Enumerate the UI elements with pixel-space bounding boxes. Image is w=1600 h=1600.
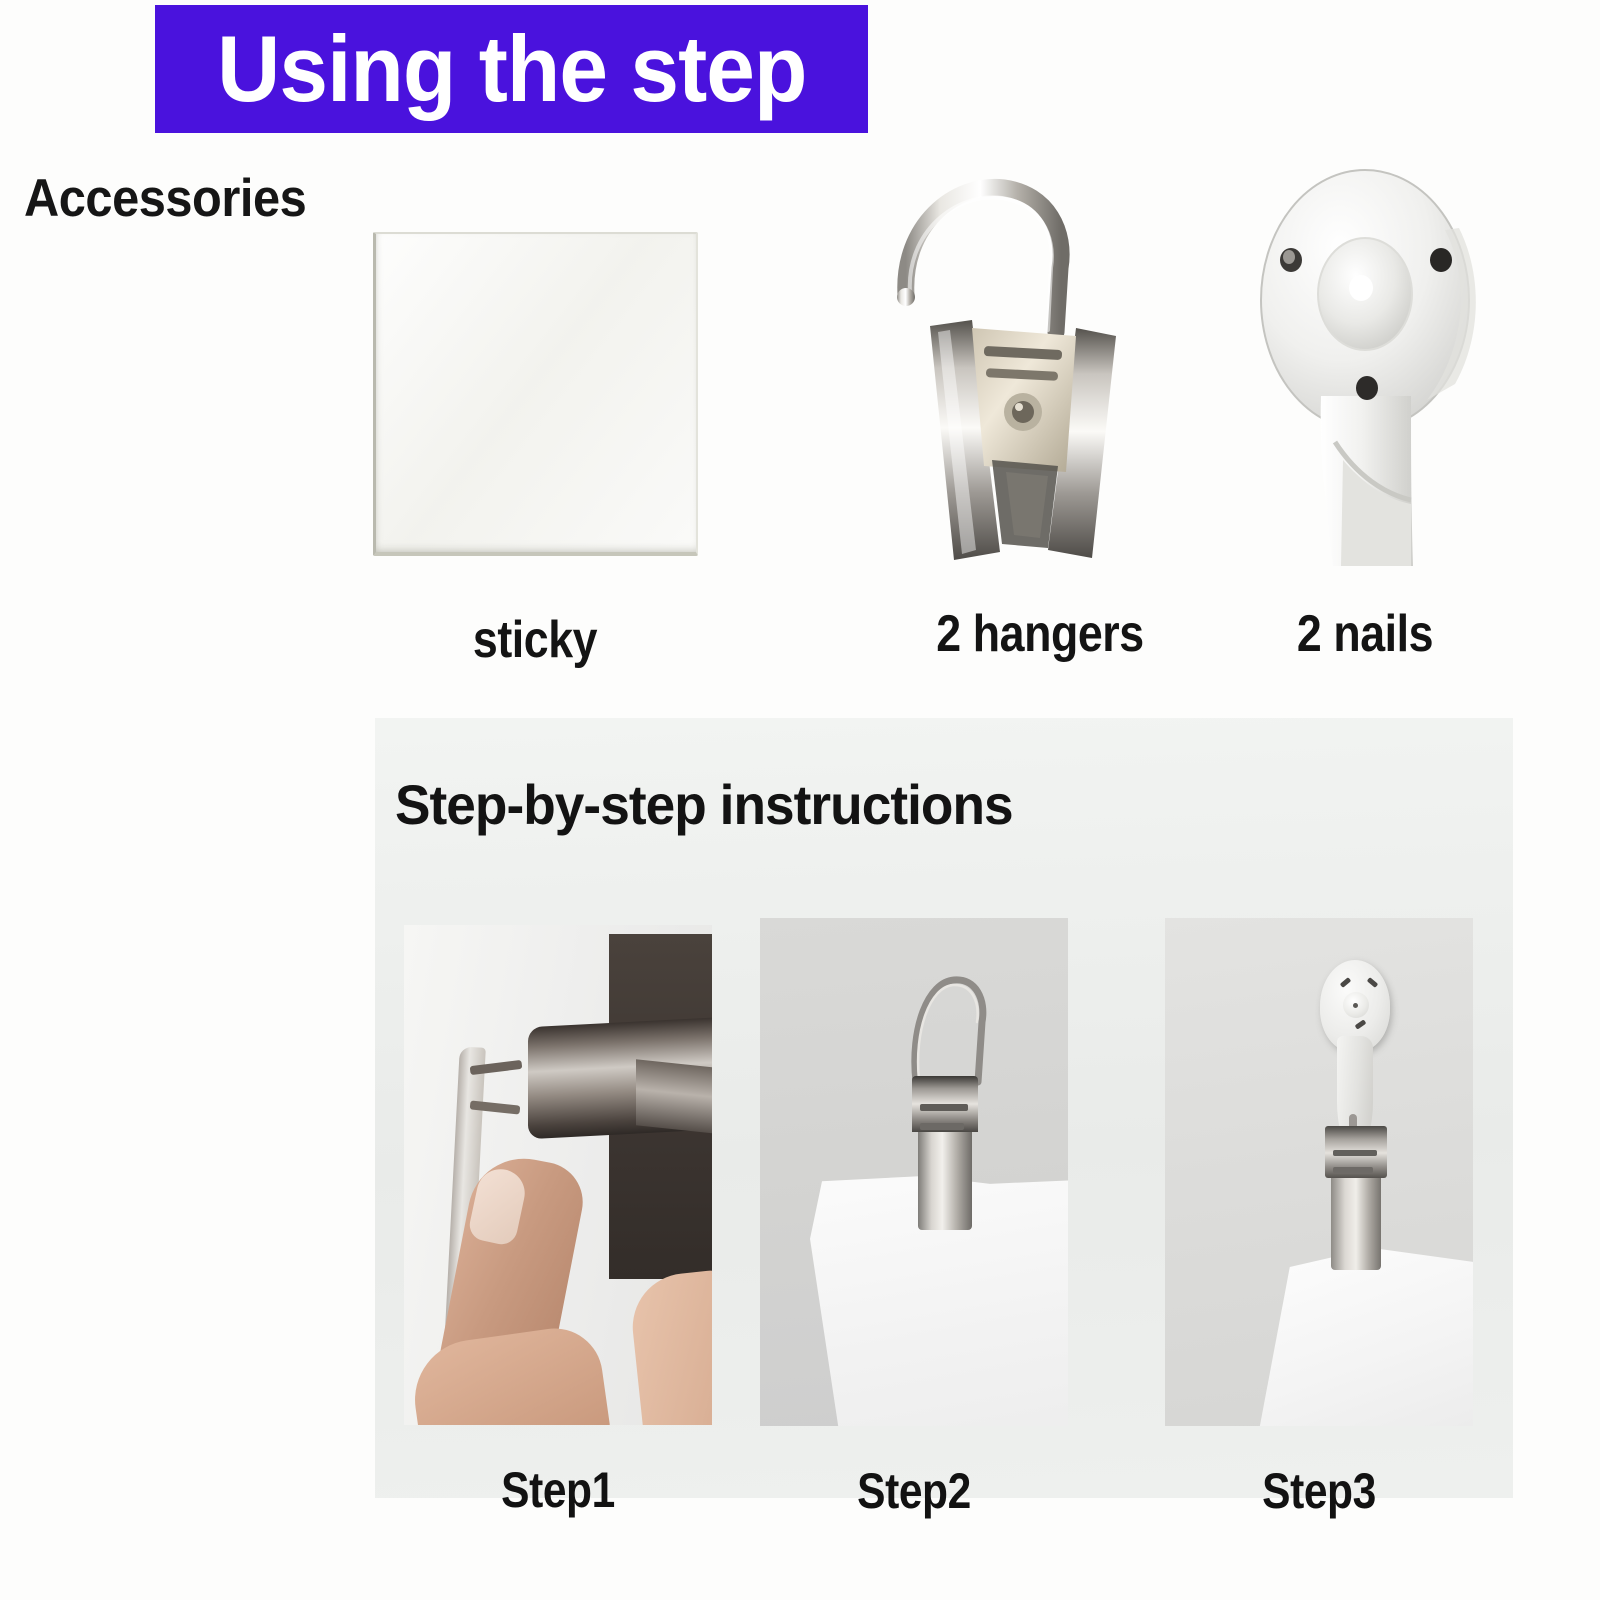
title-banner: Using the step	[155, 5, 868, 133]
instruction-infographic: Using the step Accessories sticky	[0, 0, 1600, 1600]
clip-holding-sheet-photo	[760, 918, 1068, 1426]
nail-hook-icon	[1215, 160, 1515, 580]
step-1: Step1	[404, 925, 712, 1515]
accessory-caption-sticky: sticky	[393, 614, 677, 666]
step-caption-1: Step1	[427, 1465, 689, 1515]
step-caption-3: Step3	[1188, 1466, 1450, 1516]
step-3: Step3	[1165, 918, 1473, 1516]
sticky-pad-icon	[373, 232, 698, 556]
instructions-heading: Step-by-step instructions	[395, 772, 1013, 837]
step-caption-2: Step2	[783, 1466, 1045, 1516]
accessory-caption-nails: 2 nails	[1236, 608, 1494, 660]
accessory-caption-hangers: 2 hangers	[902, 608, 1177, 660]
hammering-nail-into-hook-photo	[404, 925, 712, 1425]
hook-with-clip-and-fabric-photo	[1165, 918, 1473, 1426]
accessories-row: sticky	[0, 160, 1600, 680]
accessory-hanger: 2 hangers	[880, 160, 1200, 660]
hanger-clip-icon	[880, 160, 1200, 580]
accessory-sticky: sticky	[370, 232, 700, 666]
page-title: Using the step	[217, 22, 806, 116]
accessory-nail: 2 nails	[1215, 160, 1515, 660]
step-2: Step2	[760, 918, 1068, 1516]
